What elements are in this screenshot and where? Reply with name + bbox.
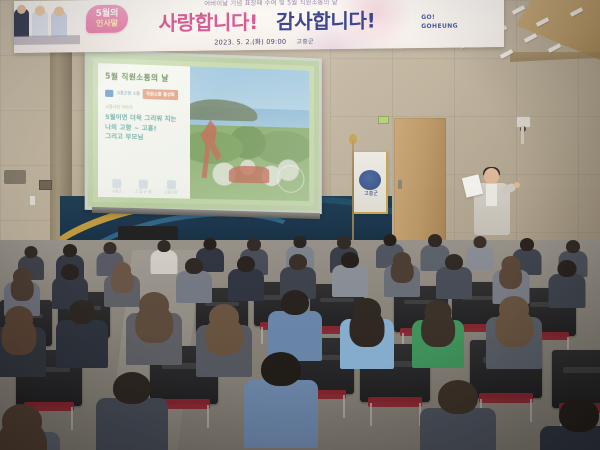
- banner-illustration-office-workers: [14, 0, 76, 45]
- illus-head: [35, 6, 45, 16]
- audience-member-torso: [436, 267, 472, 299]
- audience-member-head: [61, 264, 79, 280]
- audience-member-head: [566, 240, 580, 253]
- audience-member-head: [5, 306, 33, 331]
- presenter-shirt: [486, 184, 497, 206]
- wall-speaker-icon: [4, 170, 26, 184]
- audience-member: [412, 300, 464, 374]
- audience-member-head: [2, 404, 42, 438]
- exit-sign: [378, 116, 389, 124]
- audience-member-head: [557, 260, 576, 277]
- audience-member-head: [237, 256, 255, 272]
- audience-member: [384, 252, 420, 302]
- audience-member-head: [294, 236, 307, 248]
- audience-member-head: [247, 238, 261, 251]
- audience-member: [420, 380, 496, 450]
- audience-member-head: [384, 234, 397, 246]
- banner-slogan: GO! GOHEUNG: [421, 14, 458, 32]
- audience-member: [332, 252, 368, 302]
- audience-member-head: [281, 290, 309, 315]
- banner-headline: 사랑합니다! 감사합니다!: [132, 4, 402, 36]
- flag-fringe: [354, 152, 388, 214]
- audience-member-torso: [96, 398, 168, 450]
- camera-stem: [521, 126, 524, 144]
- slide-photo-coastline: [190, 66, 309, 201]
- audience-member-head: [289, 254, 307, 270]
- audience-member-head: [425, 300, 452, 324]
- footer-logo-label: 고 흥 군 청: [135, 189, 152, 193]
- audience-member: [0, 404, 60, 450]
- slide-sub-label: 고흥사랑 이야기: [105, 104, 184, 112]
- chair-leg: [71, 407, 73, 429]
- banner-headline-thanks: 감사합니다!: [276, 9, 375, 34]
- banner-speech-bubble: 5월의 인사말: [86, 5, 128, 34]
- banner-headline-love: 사랑합니다!: [159, 10, 258, 35]
- audience-member: [548, 260, 585, 313]
- audience-member-head: [204, 238, 217, 250]
- chair-leg: [343, 395, 345, 417]
- chair-leg: [530, 399, 532, 422]
- audience-member-head: [139, 292, 169, 318]
- audience-member-head: [501, 256, 520, 273]
- audience-member-torso: [548, 274, 585, 308]
- audience-member: [436, 254, 472, 304]
- audience-member: [228, 256, 264, 306]
- audience-member-head: [13, 268, 31, 285]
- footer-logo-label: 고흥군: [112, 189, 122, 193]
- bubble-line-1: 5월의: [96, 9, 119, 18]
- chair-cushion: [368, 397, 421, 407]
- audience-member-head: [63, 244, 77, 257]
- screen-surface: 5월 직원소통의 날 고흥군청 소통 직원소통 활성화 고흥사랑 이야기 5월이…: [88, 53, 319, 212]
- banner-organizer: 고흥군: [297, 38, 314, 45]
- chair-leg: [370, 403, 372, 426]
- audience-member-head: [69, 300, 95, 324]
- footer-logo-item: 고 흥 군 청: [135, 179, 152, 194]
- presenter-documents: [462, 174, 483, 198]
- audience-member-torso: [56, 320, 108, 368]
- audience-member: [126, 292, 182, 373]
- audience-member-head: [261, 352, 301, 386]
- audience-member-head: [393, 252, 411, 268]
- slide-badge-row: 고흥군청 소통 직원소통 활성화: [105, 88, 184, 101]
- audience-member-head: [428, 234, 442, 247]
- audience-member-head: [445, 254, 463, 270]
- slide-footer-logos: 고흥군 고 흥 군 청 고흥사랑: [105, 178, 184, 194]
- audience-member: [540, 398, 600, 450]
- illus-desk: [14, 35, 80, 45]
- audience-member-head: [113, 372, 151, 404]
- door-handle[interactable]: [398, 180, 402, 189]
- photo-watermark: [277, 165, 304, 193]
- audience-member: [150, 240, 177, 277]
- audience-member-head: [209, 304, 239, 330]
- screenshot-root: 5월 직원소통의 날 고흥군청 소통 직원소통 활성화 고흥사랑 이야기 5월이…: [0, 0, 600, 450]
- slide-org-label: 고흥군청 소통: [116, 90, 140, 97]
- event-banner: 5월의 인사말 어버이날 기념 표창패 수여 및 5월 직원소통의 날 사랑합니…: [14, 0, 504, 53]
- audience-member-head: [185, 258, 203, 274]
- audience-member: [96, 372, 168, 450]
- audience-member-head: [499, 296, 529, 322]
- footer-logo-mark-icon: [112, 178, 121, 187]
- audience-member: [244, 352, 318, 450]
- bubble-line-2: 인사말: [96, 18, 118, 28]
- audience-member-torso: [332, 265, 368, 297]
- slide-text-card: 5월 직원소통의 날 고흥군청 소통 직원소통 활성화 고흥사랑 이야기 5월이…: [98, 63, 190, 199]
- side-door[interactable]: [392, 118, 446, 242]
- audience-member-head: [103, 242, 116, 254]
- presentation-slide: 5월 직원소통의 날 고흥군청 소통 직원소통 활성화 고흥사랑 이야기 5월이…: [93, 58, 314, 206]
- footer-logo-item: 고흥사랑: [164, 180, 177, 195]
- photo-dinosaur-statue-secondary: [229, 165, 270, 183]
- slide-badge: 직원소통 활성화: [143, 89, 178, 100]
- wall-fixture: [39, 180, 52, 190]
- illus-head: [17, 5, 26, 14]
- slide-title: 5월 직원소통의 날: [105, 70, 184, 84]
- footer-logo-mark-icon: [166, 180, 175, 189]
- audience-member-torso: [228, 269, 264, 301]
- audience-member-head: [474, 236, 487, 248]
- footer-logo-item: 고흥군: [112, 178, 122, 193]
- footer-logo-mark-icon: [139, 179, 148, 188]
- audience-member-torso: [244, 380, 318, 448]
- audience-member-head: [113, 262, 131, 278]
- projection-screen[interactable]: 5월 직원소통의 날 고흥군청 소통 직원소통 활성화 고흥사랑 이야기 5월이…: [85, 49, 322, 214]
- audience-member-head: [438, 380, 478, 414]
- presenter-hand: [514, 182, 520, 188]
- audience-member: [0, 306, 46, 384]
- audience-member-torso: [420, 408, 496, 450]
- audience-member: [340, 298, 394, 376]
- chair-leg: [261, 327, 263, 345]
- audience-member-head: [520, 238, 534, 251]
- wall-switch[interactable]: [30, 196, 35, 205]
- banner-date: 2023. 5. 2.(화) 09:00: [214, 38, 286, 47]
- county-logo-icon: [105, 89, 113, 96]
- audience-member-head: [25, 246, 38, 258]
- audience-member: [56, 300, 108, 374]
- audience-member-torso: [150, 250, 177, 274]
- slide-message-line-3: 그리고 부모님: [105, 132, 184, 144]
- audience-member-head: [353, 298, 381, 323]
- audience-member-head: [341, 252, 359, 268]
- audience-member-head: [559, 398, 599, 432]
- chair-leg: [207, 405, 209, 428]
- footer-logo-label: 고흥사랑: [164, 190, 177, 194]
- audience-member: [486, 296, 542, 377]
- photo-headland: [190, 98, 257, 121]
- presenter-head: [484, 168, 499, 184]
- audience-member-head: [337, 236, 351, 249]
- audience-member-head: [157, 240, 170, 252]
- slogan-line-2: GOHEUNG: [421, 22, 458, 31]
